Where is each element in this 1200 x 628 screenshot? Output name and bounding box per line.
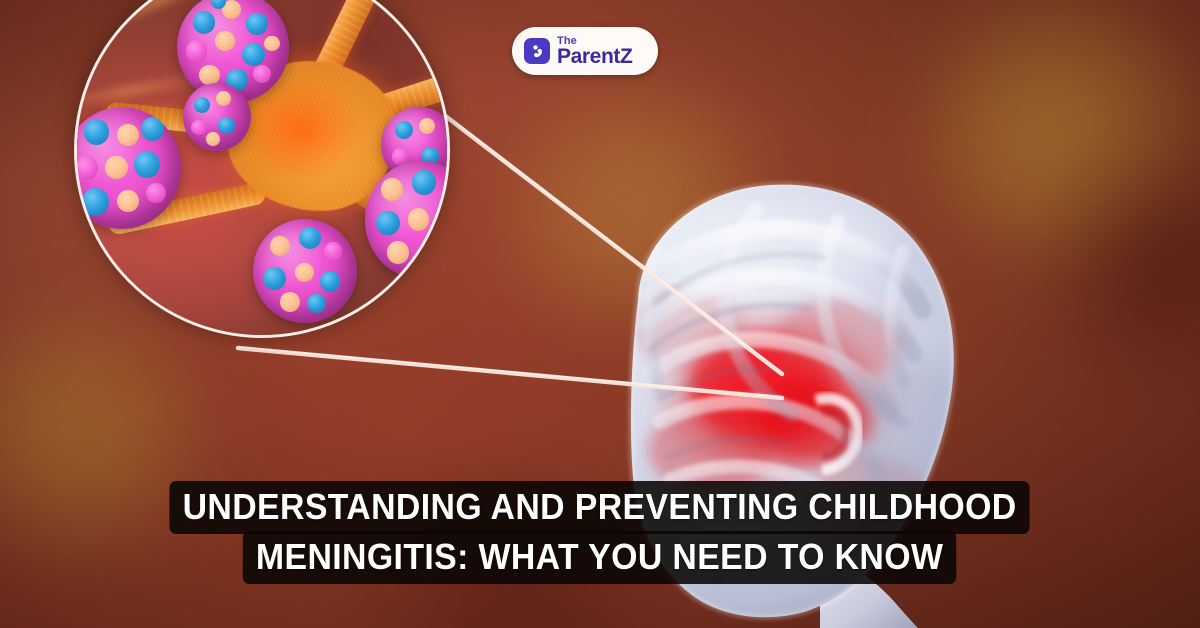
page-title: UNDERSTANDING AND PREVENTING CHILDHOOD M… xyxy=(0,481,1200,584)
title-line2: MENINGITIS: WHAT YOU NEED TO KNOW xyxy=(243,531,957,584)
parentz-logo[interactable]: The ParentZ xyxy=(512,27,658,75)
callout-line-lower xyxy=(238,348,782,398)
infographic-banner: The ParentZ UNDERSTANDING AND PREVENTING… xyxy=(0,0,1200,628)
title-line1-wrap: UNDERSTANDING AND PREVENTING CHILDHOOD xyxy=(0,481,1200,534)
logo-text: The ParentZ xyxy=(557,36,632,67)
logo-name: ParentZ xyxy=(557,46,632,67)
title-line1: UNDERSTANDING AND PREVENTING CHILDHOOD xyxy=(170,481,1030,534)
virus-particle-upper-left xyxy=(183,83,251,151)
title-line2-wrap: MENINGITIS: WHAT YOU NEED TO KNOW xyxy=(0,534,1200,584)
magnifier-circle xyxy=(74,0,450,338)
virus-particle-bottom xyxy=(253,219,357,323)
baby-parent-icon xyxy=(524,38,550,64)
